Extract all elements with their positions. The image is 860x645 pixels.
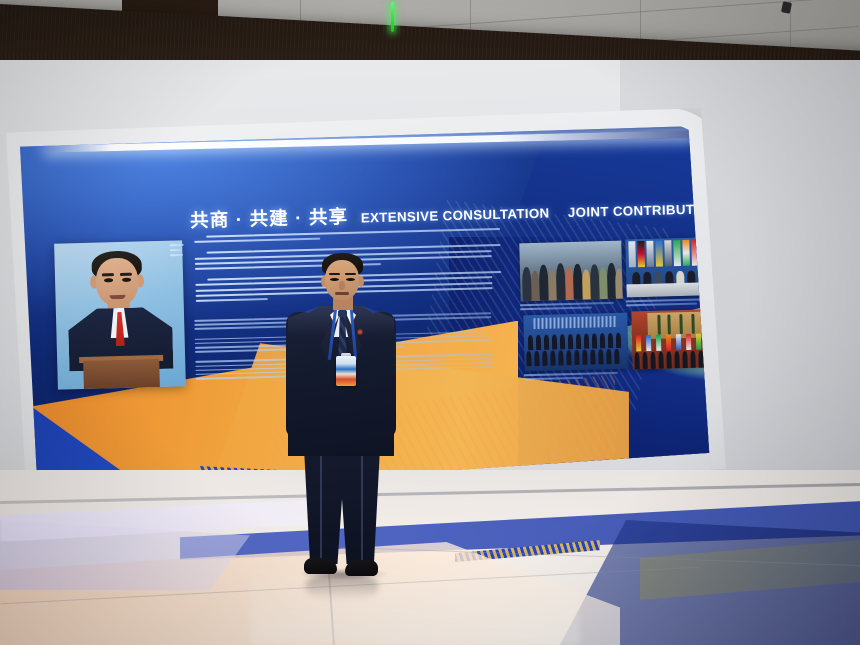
person-brow-right xyxy=(345,273,356,275)
person-visitor xyxy=(282,250,400,598)
portrait-eye-right xyxy=(122,278,131,282)
person-trouser-crease-right xyxy=(361,456,363,560)
headline-chinese: 共商 · 共建 · 共享 xyxy=(190,206,349,231)
green-indicator-light-icon xyxy=(391,2,394,32)
person-mouth xyxy=(335,292,349,295)
person-tie-knot xyxy=(338,310,347,317)
photo-group-blue-banner xyxy=(523,313,628,372)
person-eye-left xyxy=(330,278,339,281)
person-floor-reflection xyxy=(306,574,378,600)
portrait-podium xyxy=(83,359,160,389)
person-shoe-right xyxy=(345,560,378,576)
portrait-brow-right xyxy=(120,273,132,276)
person-eye-right xyxy=(346,278,355,281)
headline-english-1: EXTENSIVE CONSULTATION xyxy=(361,206,550,226)
photo-scene: 共商 · 共建 · 共享 EXTENSIVE CONSULTATION JOIN… xyxy=(0,0,860,645)
person-conference-badge xyxy=(336,356,356,386)
person-trousers xyxy=(304,448,380,564)
portrait-photo xyxy=(54,240,186,389)
person-nose xyxy=(339,281,345,290)
portrait-mouth xyxy=(109,295,125,299)
portrait-brow-left xyxy=(102,273,114,276)
portrait-eye-left xyxy=(104,278,113,282)
photo-group-flags-painting xyxy=(631,309,712,370)
person-lapel-pin-icon xyxy=(358,330,362,334)
person-trouser-crease-left xyxy=(320,456,322,560)
person-brow-left xyxy=(329,273,340,275)
body-text-left-margin xyxy=(170,244,188,260)
group-photo-banner xyxy=(534,316,617,329)
person-shoe-left xyxy=(304,558,337,574)
photo-delegates-walking xyxy=(519,241,622,302)
headline-english-2: JOINT CONTRIBUTION xyxy=(568,201,712,220)
